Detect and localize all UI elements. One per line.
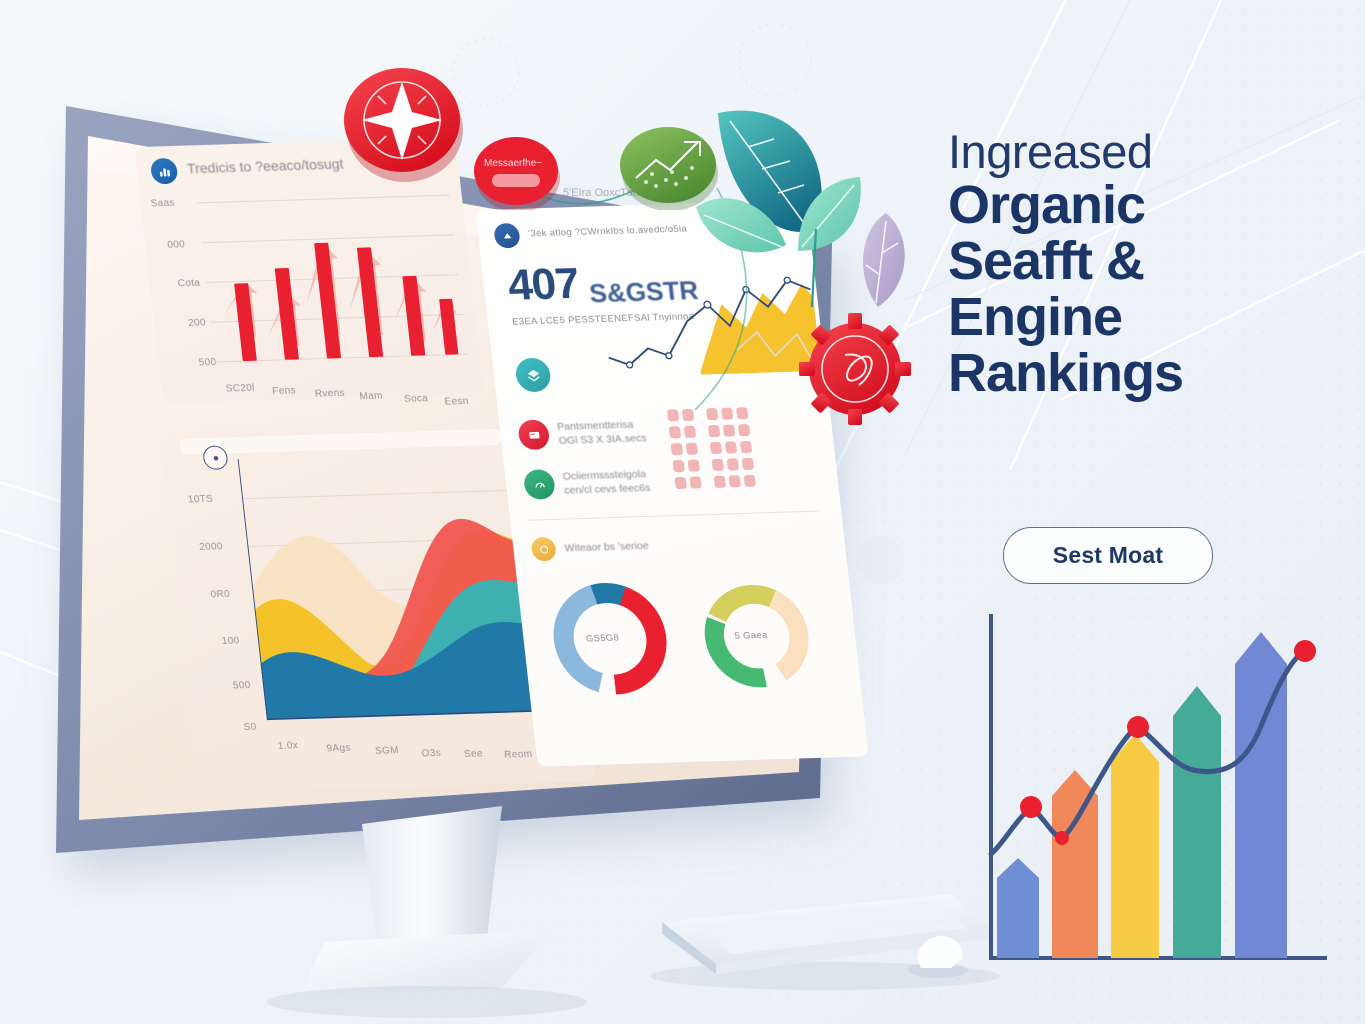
metrics-divider bbox=[528, 511, 819, 521]
metric-list-item-1-line1: Ociiermsssteigola bbox=[562, 468, 649, 483]
area-x-label-1: 9Ags bbox=[326, 743, 351, 755]
growth-badge[interactable] bbox=[612, 120, 722, 210]
area-x-label-2: SGM bbox=[375, 745, 400, 757]
bar-x-label-1: Fens bbox=[272, 385, 297, 397]
bar-y-label-1: 000 bbox=[167, 239, 186, 250]
area-y-label-1: 2000 bbox=[199, 541, 224, 553]
bar-y-label-3: 200 bbox=[188, 317, 207, 328]
headline-line-3: Seafft & bbox=[948, 233, 1348, 289]
headline-block: Ingreased Organic Seafft & Engine Rankin… bbox=[948, 128, 1348, 402]
growth-bar-chart bbox=[965, 606, 1337, 988]
search-badge-icon bbox=[492, 174, 540, 187]
number-grid-row bbox=[674, 476, 701, 489]
coin-icon bbox=[530, 537, 557, 562]
cta-button[interactable]: Sest Moat bbox=[1003, 527, 1213, 584]
area-y-label-5: S0 bbox=[243, 722, 257, 733]
area-y-label-4: 500 bbox=[232, 680, 251, 691]
metric-list-item-1-line2: cen/cl cevs feec6s bbox=[564, 482, 651, 497]
area-y-label-0: 10TS bbox=[187, 494, 213, 506]
poster-canvas: Tredicis to ?eeaco/tosugt Saas 000 Cota … bbox=[0, 0, 1365, 1024]
bar-chart-plot bbox=[195, 181, 469, 378]
headline-line-4: Engine bbox=[948, 289, 1348, 345]
sparkle-badge[interactable] bbox=[338, 62, 468, 182]
area-x-label-0: 1.0x bbox=[277, 740, 298, 752]
number-grid-row bbox=[714, 475, 756, 488]
donut-right-label: 5 Gaea bbox=[734, 630, 768, 642]
bar-4 bbox=[1173, 686, 1221, 958]
bar-1 bbox=[997, 858, 1039, 958]
number-grid-row bbox=[671, 443, 698, 456]
headline-line-2: Organic bbox=[948, 177, 1348, 233]
headline-line-5: Rankings bbox=[948, 345, 1348, 401]
area-y-label-3: 100 bbox=[221, 635, 240, 646]
donut-left-label: GS5G8 bbox=[585, 633, 620, 645]
bar-y-label-2: Cota bbox=[177, 278, 201, 290]
donut-charts bbox=[530, 560, 848, 719]
bar-y-label-0: Saas bbox=[150, 198, 175, 210]
headline-line-1: Ingreased bbox=[948, 128, 1348, 177]
metric-footer-label: Witeaor bs 'serioe bbox=[564, 540, 649, 555]
chart-badge-icon bbox=[150, 158, 179, 185]
gear-icon bbox=[799, 313, 911, 425]
monitor-stand-neck bbox=[362, 806, 502, 944]
number-grid-row bbox=[712, 458, 754, 471]
area-chart-toolbar bbox=[179, 429, 502, 455]
bar-x-label-4: Soca bbox=[403, 393, 428, 405]
chart-bars bbox=[997, 632, 1287, 958]
speed-icon bbox=[523, 469, 556, 500]
bar-x-label-3: Mam bbox=[359, 391, 383, 403]
search-badge[interactable]: Messaerfhe~ bbox=[470, 132, 562, 210]
area-x-label-5: Reom bbox=[504, 749, 533, 761]
area-x-label-3: O3s bbox=[421, 748, 442, 760]
search-badge-label: Messaerfhe~ bbox=[484, 158, 542, 169]
leaf-lavender bbox=[863, 213, 905, 307]
number-grid-row bbox=[710, 441, 752, 454]
area-x-label-4: See bbox=[463, 749, 483, 761]
bar-chart-title: Tredicis to ?eeaco/tosugt bbox=[186, 156, 344, 177]
area-y-label-2: 0R0 bbox=[210, 589, 231, 601]
gear-badge[interactable] bbox=[796, 310, 914, 428]
bar-series bbox=[230, 239, 459, 361]
bar-x-label-2: Rvens bbox=[314, 388, 345, 400]
bar-x-label-0: SC20l bbox=[225, 383, 255, 395]
metric-footer-item[interactable]: Witeaor bs 'serioe bbox=[530, 534, 650, 562]
bar-3 bbox=[1111, 734, 1159, 958]
number-grid-row bbox=[673, 459, 700, 472]
metric-list-item-1[interactable]: Ociiermsssteigola cen/cl cevs feec6s bbox=[523, 466, 651, 500]
